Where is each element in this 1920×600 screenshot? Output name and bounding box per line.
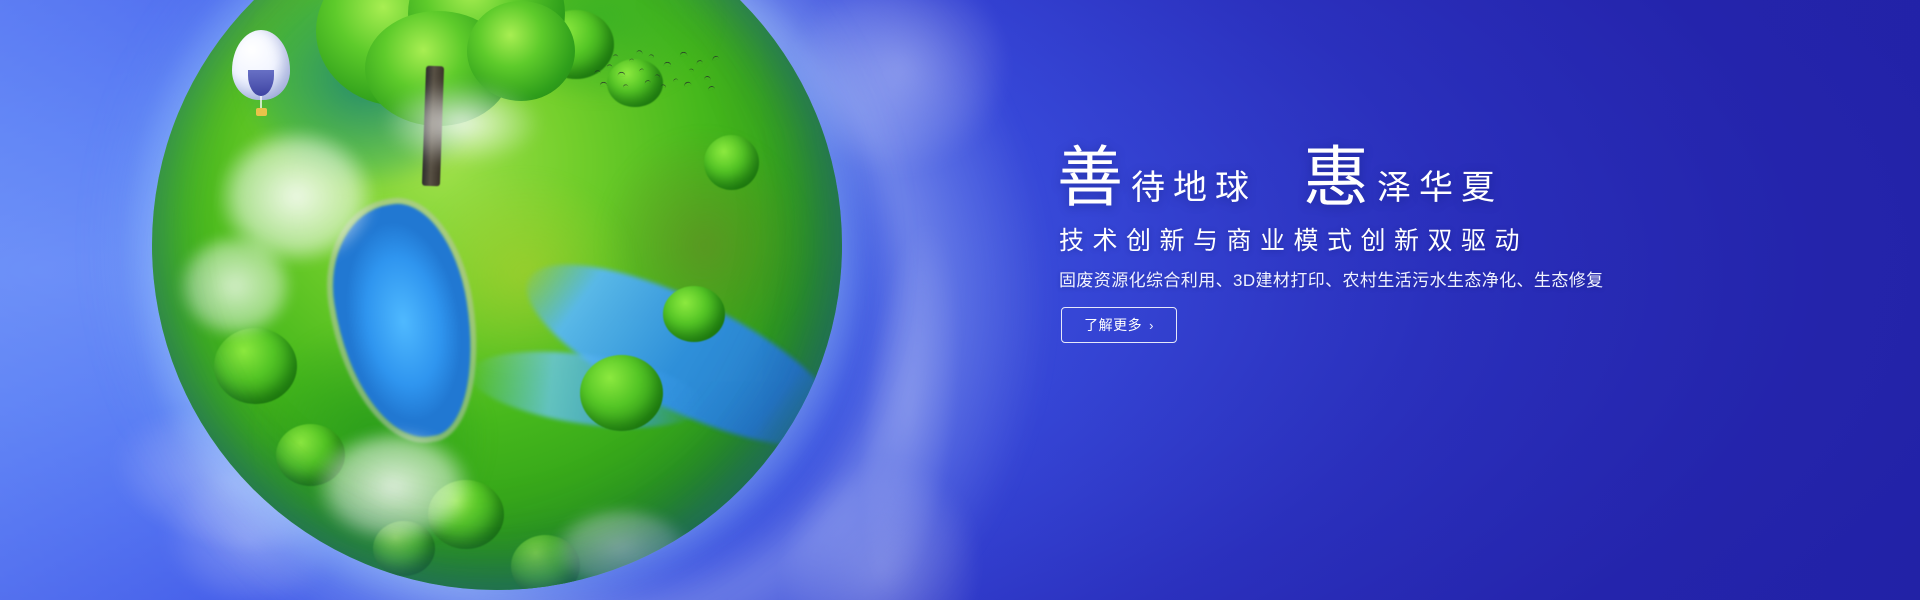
bird-icon [708, 86, 715, 91]
headline-rest-1: 待地球 [1123, 172, 1257, 212]
learn-more-button[interactable]: 了解更多 › [1061, 307, 1177, 343]
bird-icon [639, 68, 645, 72]
bird-icon [696, 60, 703, 65]
bird-icon [664, 62, 672, 67]
bird-icon [704, 76, 711, 80]
bird-icon [594, 70, 601, 74]
hot-air-balloon-icon [232, 30, 290, 122]
bird-icon [622, 84, 628, 88]
bird-icon [613, 54, 619, 57]
headline-rest-2: 泽华夏 [1369, 172, 1503, 212]
bird-icon [618, 72, 626, 77]
hero-content: 善 待地球 惠 泽华夏 技术创新与商业模式创新双驱动 固废资源化综合利用、3D建… [1057, 0, 1887, 600]
hero-description: 固废资源化综合利用、3D建材打印、农村生活污水生态净化、生态修复 [1059, 272, 1604, 289]
page-title: 善 待地球 惠 泽华夏 [1057, 146, 1503, 212]
bird-icon [654, 74, 660, 78]
bird-icon [648, 54, 654, 58]
chevron-right-icon: › [1149, 319, 1154, 332]
bird-icon [689, 68, 694, 72]
bird-icon [636, 50, 643, 54]
tree-mist [354, 66, 570, 181]
bird-icon [683, 81, 692, 87]
hero-banner: 善 待地球 惠 泽华夏 技术创新与商业模式创新双驱动 固废资源化综合利用、3D建… [0, 0, 1920, 600]
bird-icon [712, 55, 720, 61]
bird-icon [607, 64, 613, 67]
hero-subtitle: 技术创新与商业模式创新双驱动 [1059, 229, 1528, 254]
headline-char-1: 善 [1057, 146, 1123, 212]
headline-char-2: 惠 [1303, 146, 1369, 212]
big-tree-icon [300, 0, 570, 206]
bird-icon [680, 52, 688, 57]
bird-icon [644, 79, 651, 84]
bird-icon [673, 78, 679, 82]
bird-icon [660, 84, 666, 89]
bird-icon [600, 82, 608, 87]
balloon-basket [256, 108, 267, 116]
bird-icon [629, 58, 634, 61]
learn-more-label: 了解更多 [1084, 315, 1142, 335]
birds-flock-icon [592, 48, 722, 94]
